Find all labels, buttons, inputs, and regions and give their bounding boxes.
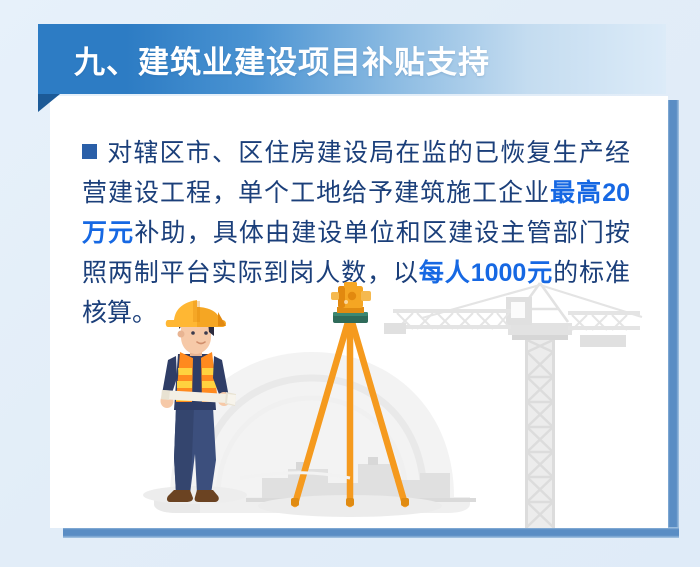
frame-accent-right <box>667 100 679 537</box>
construction-illustration <box>50 282 668 528</box>
infographic-page: 九、建筑业建设项目补贴支持 对辖区市、区住房建设局在监的已恢复生产经营建设工程，… <box>0 0 700 567</box>
ribbon-fold-corner <box>38 94 60 112</box>
bullet-square-icon <box>82 144 97 159</box>
worker-ground-shadow <box>143 486 247 504</box>
page-title: 九、建筑业建设项目补贴支持 <box>74 37 490 82</box>
frame-accent-bottom <box>63 527 679 538</box>
paragraph-segment-1: 对辖区市、区住房建设局在监的已恢复生产经营建设工程，单个工地给予建筑施工企业 <box>82 139 630 207</box>
title-ribbon: 九、建筑业建设项目补贴支持 <box>38 24 666 94</box>
